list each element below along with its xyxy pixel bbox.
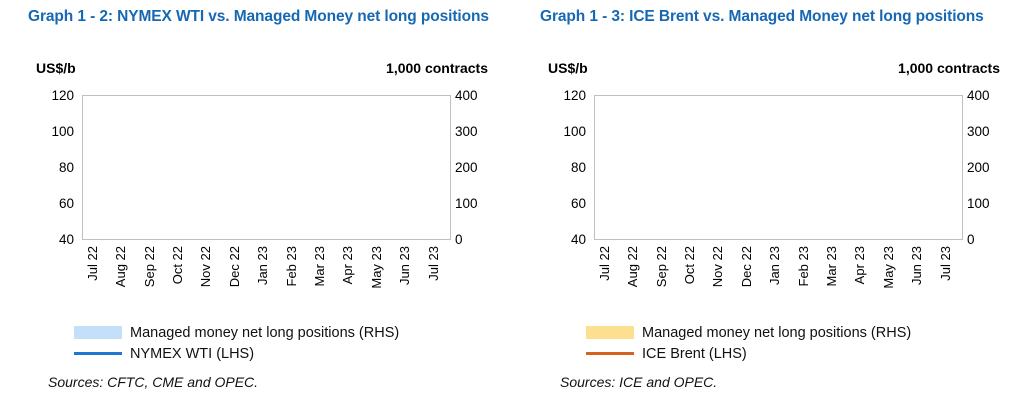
y-tick-left: 80: [28, 161, 74, 174]
plot-area: [82, 95, 451, 240]
legend-swatch-line-icon: [586, 347, 634, 360]
left-axis-unit-label: US$/b: [548, 60, 588, 76]
x-tick-label: Mar 23: [312, 246, 327, 286]
sources-note: Sources: ICE and OPEC.: [560, 374, 717, 390]
x-tick-label: Dec 22: [739, 246, 754, 287]
plot-border: [594, 95, 963, 240]
left-axis-unit-label: US$/b: [36, 60, 76, 76]
y-tick-left: 100: [540, 125, 586, 138]
x-tick-label: Apr 23: [852, 246, 867, 284]
x-tick-label: Oct 22: [170, 246, 185, 284]
legend-label: Managed money net long positions (RHS): [130, 325, 399, 341]
chart-title: Graph 1 - 2: NYMEX WTI vs. Managed Money…: [28, 6, 498, 27]
right-axis-unit-label: 1,000 contracts: [386, 60, 488, 76]
x-tick-label: Apr 23: [340, 246, 355, 284]
x-tick-label: Jun 23: [909, 246, 924, 285]
chart-panel-nymex-wti: Graph 1 - 2: NYMEX WTI vs. Managed Money…: [0, 0, 512, 402]
legend-swatch-area-icon: [586, 326, 634, 339]
chart-panel-ice-brent: Graph 1 - 3: ICE Brent vs. Managed Money…: [512, 0, 1024, 402]
x-tick-label: Jul 22: [597, 246, 612, 281]
y-tick-right: 0: [455, 233, 501, 246]
legend: Managed money net long positions (RHS) N…: [74, 322, 504, 364]
sources-note: Sources: CFTC, CME and OPEC.: [48, 374, 258, 390]
x-tick-label: May 23: [369, 246, 384, 289]
x-tick-label: Jan 23: [255, 246, 270, 285]
y-tick-right: 300: [967, 125, 1013, 138]
legend-label: NYMEX WTI (LHS): [130, 346, 254, 362]
legend-item-line: NYMEX WTI (LHS): [74, 343, 504, 364]
x-tick-label: Oct 22: [682, 246, 697, 284]
y-tick-left: 40: [28, 233, 74, 246]
y-tick-left: 60: [28, 197, 74, 210]
plot-border: [82, 95, 451, 240]
y-tick-right: 100: [455, 197, 501, 210]
x-tick-label: Dec 22: [227, 246, 242, 287]
y-tick-right: 100: [967, 197, 1013, 210]
x-tick-label: Feb 23: [796, 246, 811, 286]
y-tick-left: 80: [540, 161, 586, 174]
x-tick-label: Nov 22: [198, 246, 213, 287]
y-tick-right: 400: [455, 89, 501, 102]
y-tick-left: 100: [28, 125, 74, 138]
chart-title: Graph 1 - 3: ICE Brent vs. Managed Money…: [540, 6, 1010, 27]
x-tick-label: Jan 23: [767, 246, 782, 285]
x-tick-label: Mar 23: [824, 246, 839, 286]
legend: Managed money net long positions (RHS) I…: [586, 322, 1016, 364]
x-tick-label: Feb 23: [284, 246, 299, 286]
y-tick-right: 400: [967, 89, 1013, 102]
legend-item-area: Managed money net long positions (RHS): [74, 322, 504, 343]
legend-item-line: ICE Brent (LHS): [586, 343, 1016, 364]
y-tick-left: 40: [540, 233, 586, 246]
x-tick-label: May 23: [881, 246, 896, 289]
y-tick-right: 200: [455, 161, 501, 174]
chart-page: Graph 1 - 2: NYMEX WTI vs. Managed Money…: [0, 0, 1024, 402]
right-axis-unit-label: 1,000 contracts: [898, 60, 1000, 76]
legend-item-area: Managed money net long positions (RHS): [586, 322, 1016, 343]
y-tick-left: 60: [540, 197, 586, 210]
legend-label: Managed money net long positions (RHS): [642, 325, 911, 341]
x-tick-label: Sep 22: [654, 246, 669, 287]
y-tick-right: 300: [455, 125, 501, 138]
legend-label: ICE Brent (LHS): [642, 346, 747, 362]
x-tick-label: Aug 22: [625, 246, 640, 287]
plot-area: [594, 95, 963, 240]
legend-swatch-area-icon: [74, 326, 122, 339]
x-tick-label: Nov 22: [710, 246, 725, 287]
x-tick-label: Aug 22: [113, 246, 128, 287]
x-tick-label: Jul 23: [938, 246, 953, 281]
x-tick-label: Sep 22: [142, 246, 157, 287]
y-tick-left: 120: [540, 89, 586, 102]
y-tick-left: 120: [28, 89, 74, 102]
x-tick-label: Jun 23: [397, 246, 412, 285]
x-tick-label: Jul 23: [426, 246, 441, 281]
legend-swatch-line-icon: [74, 347, 122, 360]
y-tick-right: 200: [967, 161, 1013, 174]
x-tick-label: Jul 22: [85, 246, 100, 281]
y-tick-right: 0: [967, 233, 1013, 246]
